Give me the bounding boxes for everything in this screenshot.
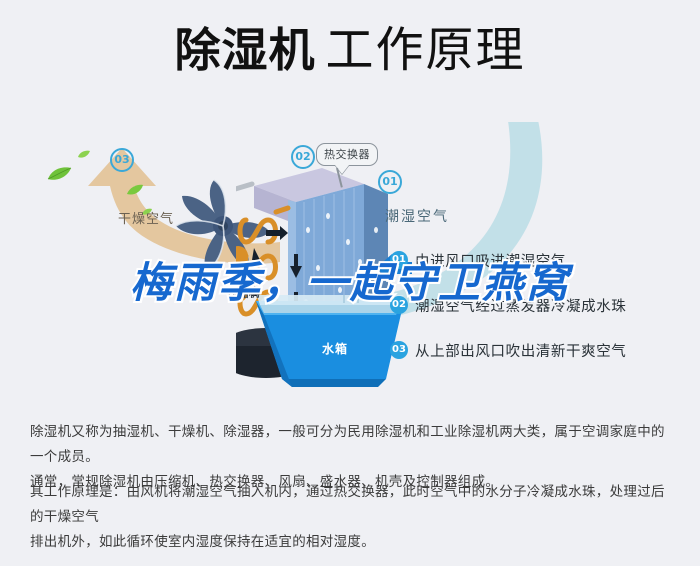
- steps-list: 01 由进风口吸进潮湿空气 02 潮湿空气经过蒸发器冷凝成水珠 03 从上部出风…: [390, 248, 680, 383]
- paragraph-line: 排出机外，如此循环使室内湿度保持在适宜的相对湿度。: [30, 530, 675, 555]
- page-title-bold: 除湿机: [174, 23, 315, 77]
- list-item: 01 由进风口吸进潮湿空气: [390, 248, 680, 272]
- list-item: 03 从上部出风口吹出清新干爽空气: [390, 338, 680, 362]
- leaf-icon: [126, 184, 144, 196]
- diagram-badge-02: 02: [291, 145, 315, 169]
- leaf-icon: [46, 166, 72, 182]
- heat-exchanger-callout: 热交换器: [316, 143, 378, 166]
- paragraph-line: 除湿机又称为抽湿机、干燥机、除湿器，一般可分为民用除湿机和工业除湿机两大类，属于…: [30, 420, 675, 470]
- compressor-label: 压缩机: [228, 285, 260, 300]
- step-badge: 03: [390, 341, 408, 359]
- leaf-icon: [77, 150, 91, 159]
- page-title-light: 工作原理: [325, 22, 525, 78]
- dry-air-label: 干燥空气: [118, 208, 174, 227]
- humid-air-label: 潮湿空气: [385, 206, 449, 226]
- step-badge: 02: [390, 296, 408, 314]
- paragraph-line: 其工作原理是：由风机将潮湿空气抽入机内，通过热交换器，此时空气中的水分子冷凝成水…: [30, 480, 675, 530]
- diagram-badge-01: 01: [378, 170, 402, 194]
- page-title: 除湿机工作原理: [0, 26, 700, 74]
- list-item: 02 潮湿空气经过蒸发器冷凝成水珠: [390, 293, 680, 317]
- diagram-badge-03: 03: [110, 148, 134, 172]
- step-text: 从上部出风口吹出清新干爽空气: [415, 340, 626, 361]
- step-text: 潮湿空气经过蒸发器冷凝成水珠: [415, 295, 626, 316]
- body-paragraph-2: 其工作原理是：由风机将潮湿空气抽入机内，通过热交换器，此时空气中的水分子冷凝成水…: [30, 480, 675, 555]
- step-badge: 01: [390, 251, 408, 269]
- page-root: 除湿机工作原理: [0, 0, 700, 566]
- water-tank-label: 水箱: [322, 340, 348, 357]
- step-text: 由进风口吸进潮湿空气: [415, 250, 566, 271]
